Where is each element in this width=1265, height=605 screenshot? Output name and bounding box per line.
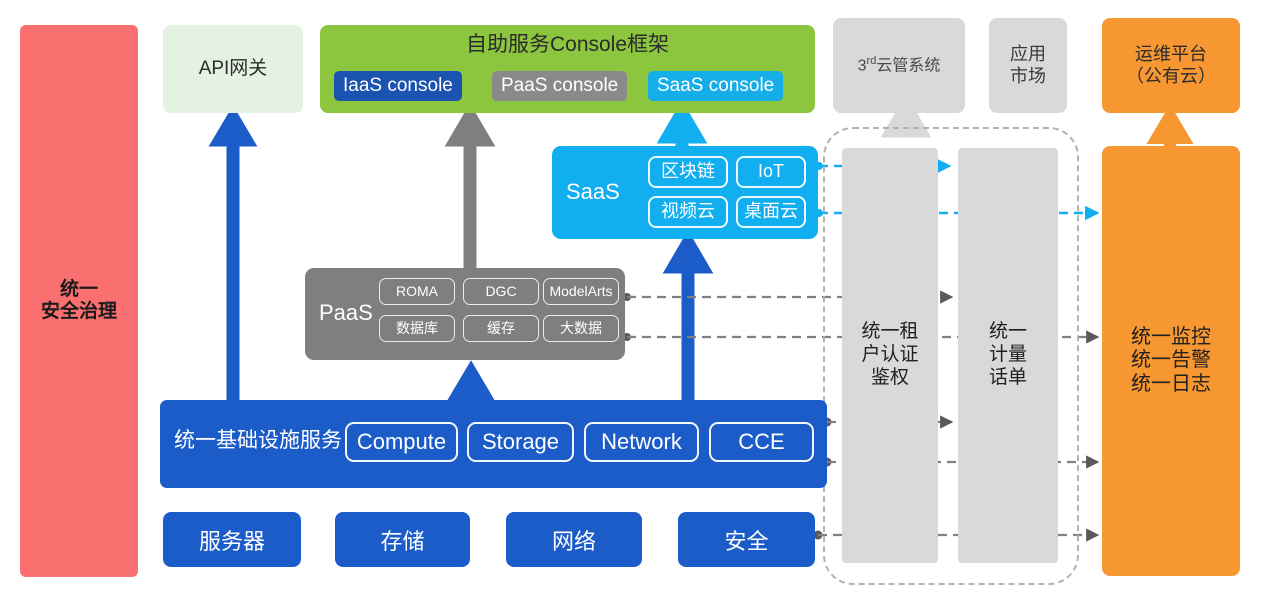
box-third-party-cloud-management-system[interactable]: 3rd云管系统 (833, 18, 965, 113)
column-unified-tenant-auth[interactable]: 统一租 户认证 鉴权 (842, 148, 938, 563)
paas-chip-dgc[interactable]: DGC (463, 278, 539, 305)
column-unified-metering-billing[interactable]: 统一 计量 话单 (958, 148, 1058, 563)
box-application-market[interactable]: 应用 市场 (989, 18, 1067, 113)
chip-iaas-console[interactable]: IaaS console (334, 71, 462, 101)
paas-label: PaaS (319, 300, 373, 326)
infra-label: 统一基础设施服务 (174, 429, 342, 454)
box-label: 运维平台 （公有云） (1126, 44, 1216, 86)
paas-chip-cache[interactable]: 缓存 (463, 315, 539, 342)
chip-paas-console[interactable]: PaaS console (492, 71, 627, 101)
panel-label: 统一 安全治理 (41, 279, 117, 324)
panel-paas[interactable]: PaaS ROMA DGC ModelArts 数据库 缓存 大数据 (305, 268, 625, 360)
box-label: API网关 (199, 58, 268, 80)
box-ops-platform-public-cloud[interactable]: 运维平台 （公有云） (1102, 18, 1240, 113)
saas-label: SaaS (566, 179, 620, 205)
arrow-saas-to-console (668, 113, 696, 146)
infra-chip-compute[interactable]: Compute (345, 422, 458, 462)
arrow-infra-to-api-gateway (220, 118, 246, 400)
console-framework-title: 自助服务Console框架 (320, 33, 815, 58)
arrow-infra-to-paas (458, 372, 484, 400)
panel-unified-security-governance[interactable]: 统一 安全治理 (20, 25, 138, 577)
paas-chip-database[interactable]: 数据库 (379, 315, 455, 342)
panel-saas[interactable]: SaaS 区块链 IoT 视频云 桌面云 (552, 146, 818, 239)
column-label: 统一 计量 话单 (989, 321, 1027, 389)
column-label: 统一租 户认证 鉴权 (861, 321, 918, 389)
infra-chip-network[interactable]: Network (584, 422, 699, 462)
box-storage[interactable]: 存储 (335, 512, 470, 567)
paas-chip-modelarts[interactable]: ModelArts (543, 278, 619, 305)
box-network[interactable]: 网络 (506, 512, 642, 567)
arrow-ops-panel-to-ops-head (1157, 116, 1183, 146)
panel-unified-infrastructure-service[interactable]: 统一基础设施服务 Compute Storage Network CCE (160, 400, 827, 488)
box-label: 3rd云管系统 (858, 55, 941, 76)
panel-self-service-console-framework[interactable]: 自助服务Console框架 IaaS console PaaS console … (320, 25, 815, 113)
chip-saas-console[interactable]: SaaS console (648, 71, 783, 101)
arrow-paas-to-console (456, 116, 484, 268)
paas-chip-bigdata[interactable]: 大数据 (543, 315, 619, 342)
panel-unified-monitoring-alarm-log[interactable]: 统一监控 统一告警 统一日志 (1102, 146, 1240, 576)
saas-chip-desktop-cloud[interactable]: 桌面云 (736, 196, 806, 228)
infra-chip-storage[interactable]: Storage (467, 422, 574, 462)
saas-chip-iot[interactable]: IoT (736, 156, 806, 188)
panel-label: 统一监控 统一告警 统一日志 (1131, 326, 1211, 397)
box-label: 应用 市场 (1010, 44, 1046, 86)
infra-chip-cce[interactable]: CCE (709, 422, 814, 462)
box-server[interactable]: 服务器 (163, 512, 301, 567)
architecture-diagram: 统一租 户认证 鉴权 统一 计量 话单 统一 安全治理 API网关 自助服务Co… (0, 0, 1265, 605)
saas-chip-video-cloud[interactable]: 视频云 (648, 196, 728, 228)
saas-chip-blockchain[interactable]: 区块链 (648, 156, 728, 188)
paas-chip-roma[interactable]: ROMA (379, 278, 455, 305)
box-security[interactable]: 安全 (678, 512, 815, 567)
arrow-infra-to-saas (674, 243, 702, 400)
box-api-gateway[interactable]: API网关 (163, 25, 303, 113)
